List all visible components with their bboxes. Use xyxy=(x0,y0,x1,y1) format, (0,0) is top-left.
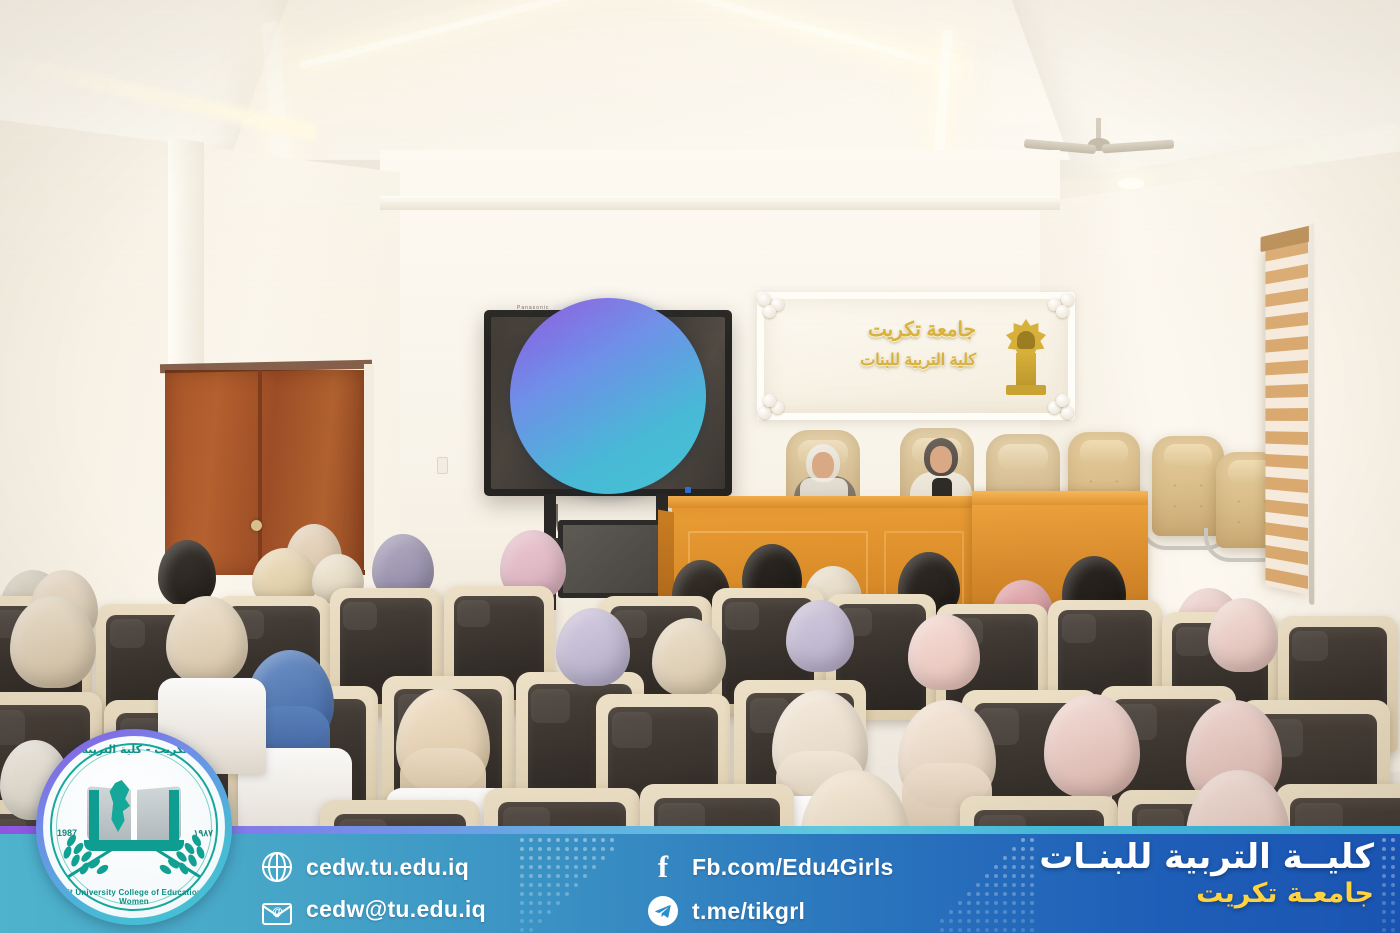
audience-person xyxy=(396,688,490,792)
contact-website[interactable]: cedw.tu.edu.iq xyxy=(262,852,469,882)
telegram-icon xyxy=(648,896,678,926)
facebook-text: Fb.com/Edu4Girls xyxy=(692,854,894,881)
audience-person xyxy=(908,614,980,690)
website-text: cedw.tu.edu.iq xyxy=(306,854,469,881)
zebra-roller-blind[interactable] xyxy=(1265,240,1308,595)
contact-facebook[interactable]: f Fb.com/Edu4Girls xyxy=(648,852,894,882)
university-name-arabic: جامعـة تكريت xyxy=(1039,878,1374,909)
email-text: cedw@tu.edu.iq xyxy=(306,896,486,923)
college-name-arabic: كليــة التربية للبنـات xyxy=(1039,838,1374,876)
wall-sign-line1: جامعة تكريت xyxy=(860,317,976,342)
wall-sign-text: جامعة تكريت كلية التربية للبنات xyxy=(860,317,976,370)
executive-chair[interactable] xyxy=(1152,436,1224,536)
open-book-icon xyxy=(87,788,181,844)
seal-arabic-text: جامعة تكريت - كلية التربية للبنات xyxy=(43,743,225,756)
facebook-icon: f xyxy=(648,852,678,882)
contact-telegram[interactable]: t.me/tikgrl xyxy=(648,896,805,926)
wall-cornice xyxy=(380,196,1060,210)
audience-person xyxy=(166,596,248,684)
globe-icon xyxy=(262,852,292,882)
university-emblem-icon xyxy=(1002,319,1050,397)
audience-person xyxy=(10,596,96,688)
college-seal-logo: جامعة تكريت - كلية التربية للبنات 1987 ١… xyxy=(36,729,232,925)
contact-email[interactable]: @ cedw@tu.edu.iq xyxy=(262,896,486,923)
door-handle[interactable] xyxy=(251,520,262,531)
display-power-led-icon xyxy=(685,487,691,493)
audience-person xyxy=(1208,598,1278,672)
screenshot-root: جامعة تكريت كلية التربية للبنات Panasoni… xyxy=(0,0,1400,933)
mail-icon: @ xyxy=(262,903,292,925)
audience-person xyxy=(1044,694,1140,798)
wall-sign-line2: كلية التربية للبنات xyxy=(860,350,976,370)
light-switch[interactable] xyxy=(437,457,448,474)
seal-latin-text: Tikrit University College of Education f… xyxy=(43,888,225,906)
display-brand-label: Panasonic xyxy=(510,298,706,494)
audience-person xyxy=(898,700,996,808)
flat-panel-display[interactable]: Panasonic xyxy=(484,310,732,496)
telegram-text: t.me/tikgrl xyxy=(692,898,805,925)
college-name-block: كليــة التربية للبنـات جامعـة تكريت xyxy=(1039,838,1374,909)
audience-person xyxy=(556,608,630,686)
audience-person xyxy=(786,600,854,672)
audience-person xyxy=(652,618,726,696)
desktop-monitor[interactable] xyxy=(558,520,670,598)
wall-sign-plaque: جامعة تكريت كلية التربية للبنات xyxy=(757,292,1075,420)
